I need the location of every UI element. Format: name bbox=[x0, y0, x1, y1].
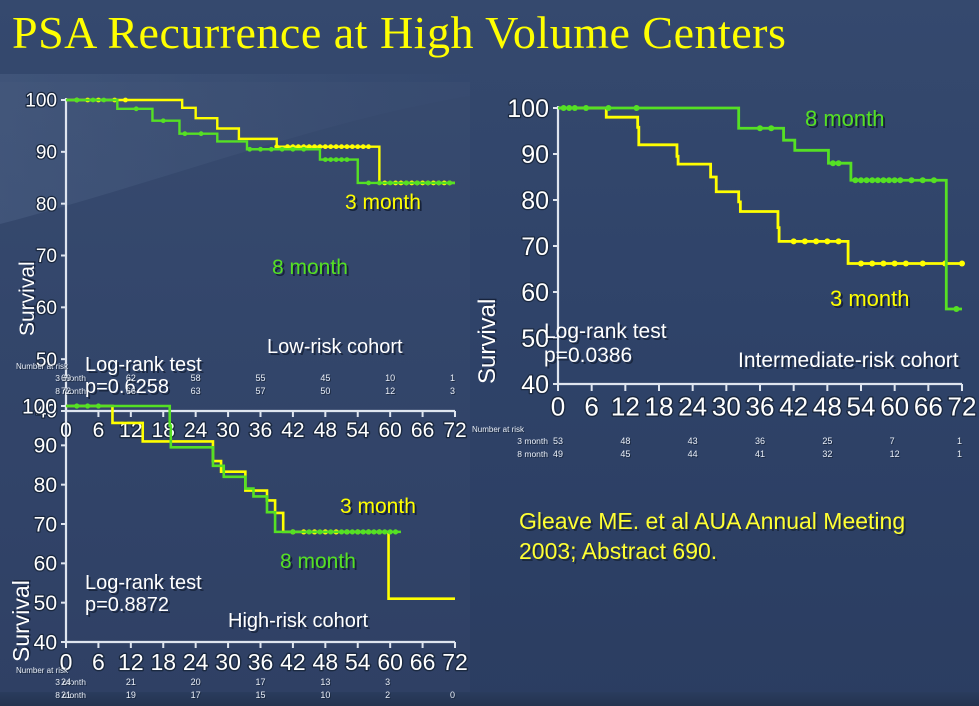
risk-value: 21 bbox=[126, 677, 136, 687]
risk-value: 58 bbox=[191, 373, 201, 383]
svg-text:66: 66 bbox=[914, 392, 943, 422]
chart2-label-8month: 8 month bbox=[280, 550, 356, 574]
chart1-logrank-label: Log-rank test bbox=[544, 320, 667, 344]
svg-text:72: 72 bbox=[948, 392, 977, 422]
chart2-logrank-label: Log-rank test bbox=[85, 572, 202, 595]
chart2-risk-table: Number at risk 3 month242120171338 month… bbox=[16, 666, 466, 706]
risk-value: 69 bbox=[61, 373, 71, 383]
risk-value: 48 bbox=[620, 436, 630, 446]
risk-value: 21 bbox=[61, 690, 71, 700]
risk-value: 25 bbox=[822, 436, 832, 446]
risk-row-label: 3 month bbox=[492, 436, 548, 446]
risk-value: 17 bbox=[191, 690, 201, 700]
risk-value: 17 bbox=[256, 677, 266, 687]
risk-value: 45 bbox=[620, 449, 630, 459]
risk-value: 1 bbox=[450, 373, 455, 383]
citation: Gleave ME. et al AUA Annual Meeting 2003… bbox=[519, 506, 969, 566]
risk-value: 7 bbox=[890, 436, 895, 446]
svg-text:90: 90 bbox=[521, 141, 549, 169]
svg-text:50: 50 bbox=[34, 592, 57, 615]
svg-text:100: 100 bbox=[22, 395, 57, 418]
svg-text:12: 12 bbox=[611, 392, 640, 422]
svg-text:18: 18 bbox=[645, 392, 674, 422]
chart1-risk-title: Number at risk bbox=[472, 425, 972, 434]
chart1-risk-table: Number at risk 3 month5348433625718 mont… bbox=[472, 425, 972, 465]
risk-value: 41 bbox=[755, 449, 765, 459]
risk-value: 12 bbox=[890, 449, 900, 459]
risk-value: 55 bbox=[256, 373, 266, 383]
risk-value: 20 bbox=[191, 677, 201, 687]
chart2-cohort-title: High-risk cohort bbox=[228, 610, 368, 633]
risk-value: 43 bbox=[688, 436, 698, 446]
svg-text:40: 40 bbox=[521, 371, 549, 399]
svg-text:40: 40 bbox=[34, 631, 57, 654]
risk-value: 53 bbox=[553, 436, 563, 446]
risk-value: 49 bbox=[553, 449, 563, 459]
risk-value: 44 bbox=[688, 449, 698, 459]
risk-value: 13 bbox=[320, 677, 330, 687]
svg-text:54: 54 bbox=[847, 392, 876, 422]
svg-text:100: 100 bbox=[507, 95, 549, 123]
svg-text:0: 0 bbox=[551, 392, 565, 422]
risk-value: 10 bbox=[385, 373, 395, 383]
svg-text:70: 70 bbox=[521, 233, 549, 261]
svg-text:30: 30 bbox=[712, 392, 741, 422]
chart0-risk-title: Number at risk bbox=[16, 362, 466, 371]
risk-value: 24 bbox=[61, 677, 71, 687]
risk-row-label: 3 month bbox=[34, 373, 86, 383]
risk-value: 1 bbox=[957, 436, 962, 446]
risk-value: 62 bbox=[126, 373, 136, 383]
chart2-pvalue: p=0.8872 bbox=[85, 594, 169, 617]
chart0-label-8month: 8 month bbox=[272, 256, 348, 280]
svg-text:6: 6 bbox=[584, 392, 598, 422]
svg-text:48: 48 bbox=[813, 392, 842, 422]
risk-value: 45 bbox=[320, 373, 330, 383]
citation-line-2: 2003; Abstract 690. bbox=[519, 536, 969, 566]
svg-text:24: 24 bbox=[678, 392, 707, 422]
svg-text:90: 90 bbox=[34, 435, 57, 458]
svg-text:70: 70 bbox=[34, 513, 57, 536]
risk-value: 10 bbox=[320, 690, 330, 700]
svg-text:60: 60 bbox=[521, 279, 549, 307]
risk-value: 15 bbox=[256, 690, 266, 700]
page-title: PSA Recurrence at High Volume Centers bbox=[12, 4, 962, 66]
risk-row-label: 8 month bbox=[492, 449, 548, 459]
chart2-ylabel: Survival bbox=[8, 580, 35, 662]
svg-text:36: 36 bbox=[746, 392, 775, 422]
risk-value: 2 bbox=[385, 690, 390, 700]
chart-intermediate-risk: Survival 4050607080901000612182430364248… bbox=[470, 92, 979, 422]
chart1-pvalue: p=0.0386 bbox=[544, 344, 632, 368]
svg-text:90: 90 bbox=[36, 142, 57, 163]
risk-value: 3 bbox=[385, 677, 390, 687]
risk-value: 0 bbox=[450, 690, 455, 700]
risk-value: 36 bbox=[755, 436, 765, 446]
chart0-cohort-title: Low-risk cohort bbox=[267, 336, 403, 359]
risk-row-label: 3 month bbox=[34, 677, 86, 687]
chart-low-risk: Survival 4050607080901000612182430364248… bbox=[0, 86, 470, 396]
chart-high-risk: Survival 4050607080901000612182430364248… bbox=[0, 392, 470, 702]
chart2-risk-title: Number at risk bbox=[16, 666, 466, 675]
risk-value: 1 bbox=[957, 449, 962, 459]
chart2-label-3month: 3 month bbox=[340, 495, 416, 519]
svg-text:60: 60 bbox=[34, 553, 57, 576]
chart1-label-8month: 8 month bbox=[805, 106, 885, 132]
risk-value: 32 bbox=[822, 449, 832, 459]
chart0-label-3month: 3 month bbox=[345, 191, 421, 215]
risk-row-label: 8 month bbox=[34, 690, 86, 700]
chart1-ylabel: Survival bbox=[474, 299, 502, 384]
svg-text:100: 100 bbox=[25, 91, 57, 112]
chart1-cohort-title: Intermediate-risk cohort bbox=[738, 349, 959, 373]
chart1-label-3month: 3 month bbox=[830, 286, 910, 312]
svg-text:80: 80 bbox=[36, 194, 57, 215]
chart2-plot: 405060708090100061218243036424854606672 bbox=[0, 392, 470, 702]
risk-value: 19 bbox=[126, 690, 136, 700]
svg-text:80: 80 bbox=[34, 474, 57, 497]
svg-text:42: 42 bbox=[779, 392, 808, 422]
chart0-ylabel: Survival bbox=[16, 261, 40, 336]
citation-line-1: Gleave ME. et al AUA Annual Meeting bbox=[519, 506, 969, 536]
svg-text:60: 60 bbox=[880, 392, 909, 422]
svg-text:80: 80 bbox=[521, 187, 549, 215]
